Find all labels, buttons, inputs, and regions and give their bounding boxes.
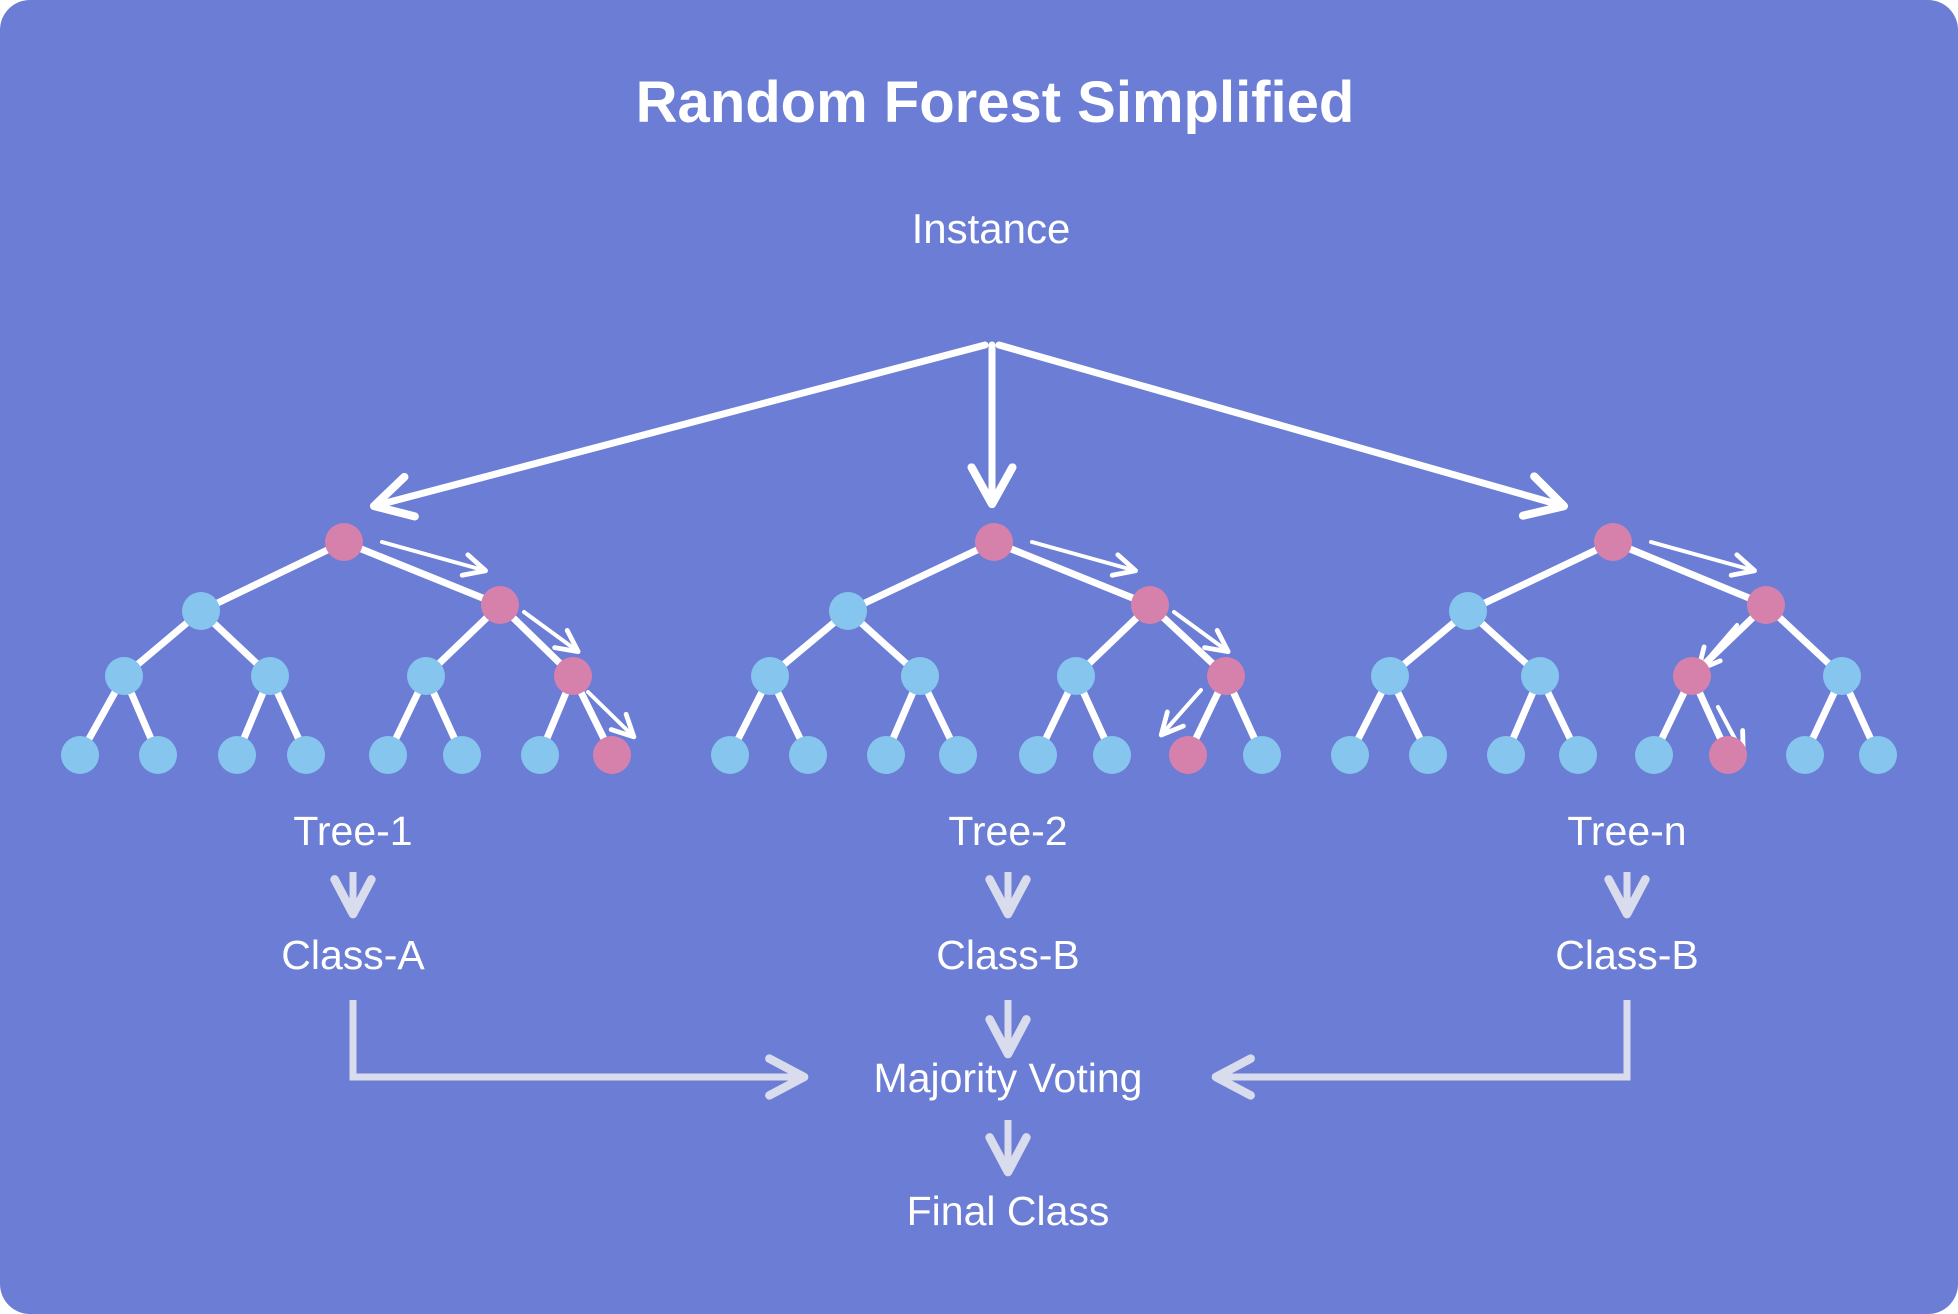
tree-1-name-label: Tree-1 xyxy=(293,808,412,854)
arrow-instance-to-tree-n xyxy=(999,345,1560,505)
tree-2-leaf-5 xyxy=(1093,736,1131,774)
tree-n-leaf-6 xyxy=(1786,736,1824,774)
random-forest-diagram: Random Forest Simplified Instance xyxy=(0,0,1958,1314)
tree-n-node-l2-2 xyxy=(1673,657,1711,695)
tree-n-node-root xyxy=(1594,523,1632,561)
tree-2-group xyxy=(711,523,1281,774)
tree-2-node-l1-1 xyxy=(1131,586,1169,624)
diagram-canvas: Random Forest Simplified Instance xyxy=(0,0,1958,1314)
tree-1-leaf-7 xyxy=(593,736,631,774)
tree-1-edges xyxy=(80,542,612,755)
tree-n-leaf-1 xyxy=(1409,736,1447,774)
tree-1-group xyxy=(61,523,632,774)
tree-2-edges xyxy=(730,542,1262,755)
tree-1-node-root xyxy=(325,523,363,561)
tree-2-leaf-3 xyxy=(939,736,977,774)
tree-n-leaf-3 xyxy=(1559,736,1597,774)
tree-n-path-arrows xyxy=(1651,542,1752,752)
arrow-left-to-voting xyxy=(353,1000,800,1077)
tree-n-node-l2-0 xyxy=(1371,657,1409,695)
tree-2-leaf-2 xyxy=(867,736,905,774)
tree-n-edges xyxy=(1350,542,1878,755)
tree-n-node-l2-3 xyxy=(1823,657,1861,695)
tree-2-leaf-0 xyxy=(711,736,749,774)
page-title: Random Forest Simplified xyxy=(636,70,1355,135)
tree-n-leaf-5 xyxy=(1709,736,1747,774)
tree-1-node-l1-0 xyxy=(182,592,220,630)
tree-2-path-arrow-3 xyxy=(1163,690,1201,733)
tree-n-leaf-4 xyxy=(1635,736,1673,774)
tree-n-leaf-0 xyxy=(1331,736,1369,774)
tree-n-leaf-7 xyxy=(1859,736,1897,774)
tree-2-name-label: Tree-2 xyxy=(948,808,1067,854)
tree-n-name-label: Tree-n xyxy=(1567,808,1686,854)
tree-n-node-l2-1 xyxy=(1521,657,1559,695)
tree-1-leaf-3 xyxy=(287,736,325,774)
tree-n-node-l1-0 xyxy=(1449,592,1487,630)
tree-n-node-l1-1 xyxy=(1747,586,1785,624)
tree-1-leaf-6 xyxy=(521,736,559,774)
tree-1-class-label: Class-A xyxy=(281,932,425,978)
tree-1-leaf-5 xyxy=(443,736,481,774)
tree-2-node-l2-2 xyxy=(1057,657,1095,695)
tree-1-leaf-4 xyxy=(369,736,407,774)
tree-2-leaf-1 xyxy=(789,736,827,774)
tree-1-path-arrow-2 xyxy=(524,612,576,650)
arrow-right-to-voting xyxy=(1220,1000,1627,1077)
final-class-label: Final Class xyxy=(907,1188,1110,1234)
tree-n-path-arrow-2 xyxy=(1700,625,1737,668)
tree-2-leaf-7 xyxy=(1243,736,1281,774)
tree-2-class-label: Class-B xyxy=(936,932,1080,978)
tree-1-node-l2-0 xyxy=(105,657,143,695)
tree-2-node-l1-0 xyxy=(829,592,867,630)
tree-n-class-label: Class-B xyxy=(1555,932,1699,978)
tree-1-leaf-0 xyxy=(61,736,99,774)
tree-1-node-l2-1 xyxy=(251,657,289,695)
tree-2-node-l2-3 xyxy=(1207,657,1245,695)
majority-voting-label: Majority Voting xyxy=(874,1055,1143,1101)
instance-distribution-arrows xyxy=(378,345,1560,505)
tree-2-node-root xyxy=(975,523,1013,561)
tree-n-leaf-2 xyxy=(1487,736,1525,774)
tree-n-group xyxy=(1331,523,1897,774)
tree-2-node-l2-1 xyxy=(901,657,939,695)
tree-2-leaf-4 xyxy=(1019,736,1057,774)
tree-1-leaf-1 xyxy=(139,736,177,774)
tree-2-node-l2-0 xyxy=(751,657,789,695)
instance-label: Instance xyxy=(912,205,1071,252)
tree-2-leaf-6 xyxy=(1169,736,1207,774)
tree-1-node-l2-2 xyxy=(407,657,445,695)
tree-1-leaf-2 xyxy=(218,736,256,774)
tree-1-node-l2-3 xyxy=(554,657,592,695)
tree-1-node-l1-1 xyxy=(481,586,519,624)
arrow-instance-to-tree-1 xyxy=(378,345,985,505)
